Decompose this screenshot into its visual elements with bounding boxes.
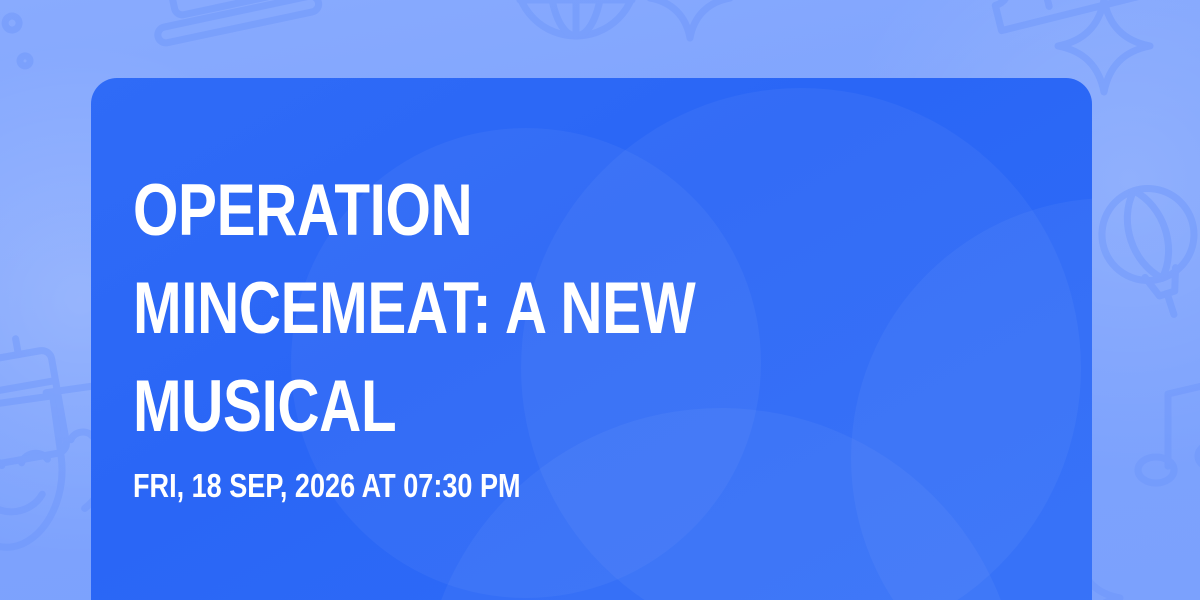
globe-icon bbox=[516, 0, 636, 36]
event-date: Fri, 18 Sep, 2026 at 07:30 PM bbox=[133, 466, 521, 506]
hot-air-balloon-icon bbox=[1090, 177, 1200, 329]
event-hero-card[interactable]: Operation Mincemeat: A New Musical Fri, … bbox=[91, 78, 1092, 600]
ticket-icon bbox=[980, 0, 1147, 31]
sparkle-icon bbox=[650, 0, 730, 38]
card-content: Operation Mincemeat: A New Musical Fri, … bbox=[133, 78, 1050, 600]
event-title: Operation Mincemeat: A New Musical bbox=[133, 162, 821, 456]
music-note-icon bbox=[1138, 380, 1200, 483]
laptop-icon bbox=[138, 0, 320, 44]
confetti-icon bbox=[0, 0, 42, 97]
